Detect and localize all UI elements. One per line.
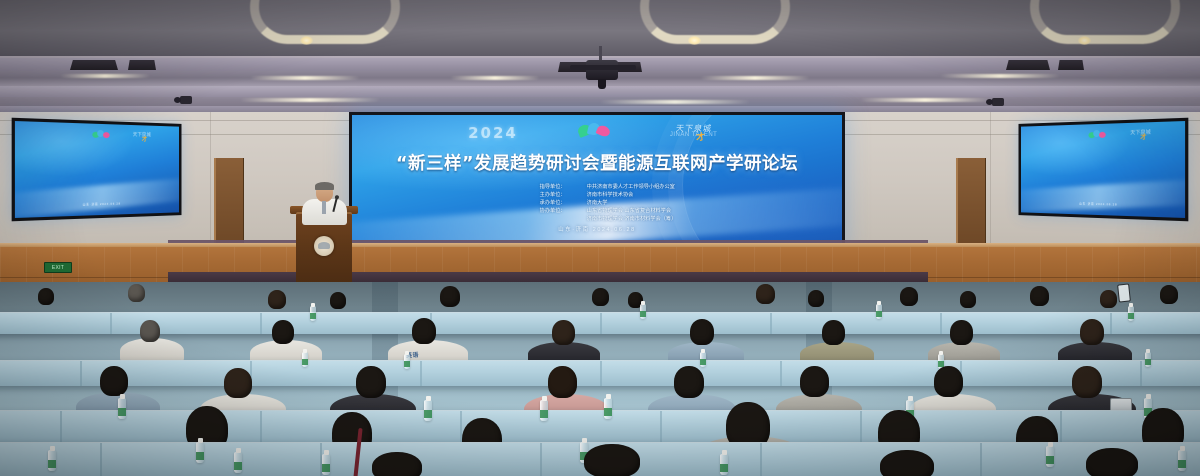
audience-head <box>224 368 252 398</box>
ceiling-camera-right <box>992 98 1004 106</box>
ceiling-vent-5 <box>1006 60 1050 70</box>
credit-value: 山东省物理学会 山东省复合材料学会 <box>587 208 671 215</box>
logo-2024-icon: 2024 <box>468 124 518 142</box>
audience-head-foreground <box>372 452 422 476</box>
conference-hall-photo: 2024 天下泉城才 “新三样”发展趋势研讨会暨能源互联网产学研论坛 指导单位：… <box>0 0 1200 476</box>
exit-sign-label: EXIT <box>52 265 64 271</box>
university-crest-icon <box>314 236 334 256</box>
audience-head <box>330 292 346 309</box>
ceiling-strip-2 <box>250 76 360 80</box>
audience-head <box>808 290 824 307</box>
audience-head <box>548 366 577 398</box>
exit-sign: EXIT <box>44 262 72 273</box>
credit-key: 主办单位： <box>540 192 580 199</box>
main-screen-logo-row: 2024 天下泉城 JINAN TALENT 才 <box>352 123 842 143</box>
audience-head-foreground <box>584 444 640 476</box>
ceiling-vent-6 <box>1058 60 1084 70</box>
ceiling-strip-5 <box>940 74 1060 78</box>
ceiling-downlight-3 <box>1078 36 1091 45</box>
audience-head <box>592 288 609 306</box>
water-bottle[interactable] <box>1046 446 1054 467</box>
speaker-at-podium <box>300 183 348 223</box>
audience-head <box>1160 285 1178 304</box>
ceiling-strip-8 <box>860 98 990 102</box>
audience-head-foreground <box>880 450 934 476</box>
logo-calligraphy-talent-icon: 天下泉城 JINAN TALENT 才 <box>670 123 726 143</box>
credit-value: 济南市科学技术协会 <box>587 192 634 199</box>
audience-head <box>128 284 145 302</box>
water-bottle[interactable] <box>322 454 330 475</box>
ceiling-camera-left <box>180 96 192 104</box>
logo-colorful-birds-icon <box>574 123 614 143</box>
credit-row: 协办单位： 山东省物理学会 山东省复合材料学会 <box>540 208 677 215</box>
ceiling-vent-1 <box>70 60 118 70</box>
credit-value: 济南大学 <box>587 200 608 207</box>
speaker-hair <box>315 182 334 190</box>
ceiling-strip-7 <box>600 100 750 104</box>
audience-head <box>100 366 128 396</box>
audience-row-b: 英语 <box>0 316 1200 356</box>
ceiling-arc-light-3 <box>1030 0 1180 44</box>
audience-head <box>1072 366 1102 398</box>
audience-head <box>552 320 575 345</box>
audience-head <box>268 290 286 309</box>
main-led-screen: 2024 天下泉城 JINAN TALENT 才 “新三样”发展趋势研讨会暨能源… <box>349 112 845 252</box>
audience-head <box>1100 290 1117 308</box>
logo-colorful-birds-icon <box>91 130 110 141</box>
ceiling-vent-2 <box>128 60 156 70</box>
wall-panel-line-1 <box>210 112 211 247</box>
credit-row: 承办单位： 济南大学 <box>540 200 677 207</box>
ceiling <box>0 0 1200 118</box>
credit-key: 协办单位： <box>540 208 580 215</box>
ceiling-arc-light-1 <box>250 0 400 44</box>
logo-calligraphy-talent-icon: 天下泉城才 <box>131 131 154 141</box>
water-bottle[interactable] <box>234 452 242 473</box>
right-led-panel: 2024 天下泉城才 “新三样”发展趋势研讨会暨能源互联网产学研论坛 指导单位：… <box>1018 118 1188 222</box>
audience-row-c <box>0 364 1200 412</box>
audience-head <box>900 287 918 306</box>
audience-head <box>356 366 386 398</box>
main-screen-title: “新三样”发展趋势研讨会暨能源互联网产学研论坛 <box>396 150 798 175</box>
main-screen-credits: 指导单位： 中共济南市委人才工作领导小组办公室 主办单位： 济南市科学技术协会 … <box>540 184 677 223</box>
speaker-lanyard <box>322 201 326 214</box>
ceiling-arc-light-2 <box>640 0 790 44</box>
ceiling-strip-6 <box>240 98 380 102</box>
water-bottle[interactable] <box>720 454 728 475</box>
credit-key: 承办单位： <box>540 200 580 207</box>
credit-value-continued: 济南市物理学会 济南市材料学会（筹） <box>587 216 677 223</box>
audience-head <box>1080 319 1104 345</box>
left-led-panel: 2024 天下泉城才 “新三样”发展趋势研讨会暨能源互联网产学研论坛 指导单位：… <box>12 118 182 222</box>
audience-head <box>800 366 829 397</box>
water-bottle[interactable] <box>196 442 204 463</box>
audience-head <box>822 320 845 345</box>
audience-seating-area: 英语 <box>0 282 1200 476</box>
audience-head <box>272 320 294 344</box>
audience-head-foreground <box>1086 448 1138 476</box>
audience-head <box>1030 286 1049 306</box>
ceiling-strip-3 <box>450 76 540 80</box>
main-screen-footer: 山东·济南 2024.06.28 <box>352 225 842 233</box>
audience-head <box>440 286 460 307</box>
side-door-left[interactable] <box>214 158 244 248</box>
audience-row-a <box>0 282 1200 316</box>
audience-head <box>950 320 973 345</box>
audience-head <box>38 288 54 305</box>
ceiling-projector <box>586 60 618 80</box>
audience-head <box>960 291 976 308</box>
smartphone-recording[interactable] <box>1117 283 1131 302</box>
logo-colorful-birds-icon <box>1087 130 1106 140</box>
credit-value: 中共济南市委人才工作领导小组办公室 <box>587 184 675 191</box>
side-door-right[interactable] <box>956 158 986 248</box>
audience-head <box>412 318 436 344</box>
credit-row: 指导单位： 中共济南市委人才工作领导小组办公室 <box>540 184 677 191</box>
ceiling-downlight-1 <box>300 36 313 45</box>
audience-head <box>934 366 963 397</box>
water-bottle[interactable] <box>48 450 56 471</box>
water-bottle[interactable] <box>1178 450 1186 471</box>
ceiling-strip-1 <box>60 74 150 78</box>
ceiling-strip-4 <box>700 76 810 80</box>
logo-calligraphy-talent-icon: 天下泉城才 <box>1128 128 1155 139</box>
credit-key: 指导单位： <box>540 184 580 191</box>
wall-panel-line-2 <box>990 112 991 247</box>
audience-head <box>140 320 160 342</box>
audience-head <box>690 319 714 345</box>
audience-head <box>756 284 775 304</box>
audience-head <box>674 366 704 398</box>
credit-row: 主办单位： 济南市科学技术协会 <box>540 192 677 199</box>
ceiling-downlight-2 <box>688 36 701 45</box>
